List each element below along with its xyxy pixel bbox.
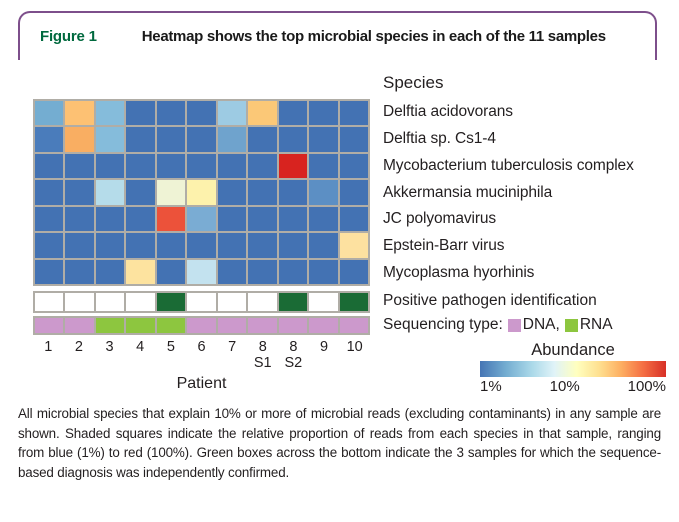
sequencing-type-legend: Sequencing type: DNA, RNA bbox=[383, 316, 613, 334]
legend-tick-mid: 10% bbox=[550, 378, 580, 395]
species-label: Mycobacterium tuberculosis complex bbox=[383, 157, 634, 175]
heatmap-cell bbox=[34, 153, 64, 179]
heatmap-cell bbox=[217, 259, 247, 285]
pathogen-identification-cell bbox=[217, 292, 247, 312]
heatmap-cell bbox=[156, 126, 186, 152]
heatmap-cell bbox=[308, 179, 338, 205]
pathogen-identification-cell bbox=[95, 292, 125, 312]
x-axis-tick-labels: 12345678S18S2910 bbox=[33, 339, 370, 377]
species-label: Epstein-Barr virus bbox=[383, 237, 504, 255]
heatmap-cell bbox=[64, 179, 94, 205]
heatmap-cell bbox=[64, 100, 94, 126]
pathogen-identification-cell bbox=[278, 292, 308, 312]
sequencing-type-cell bbox=[95, 317, 125, 334]
x-axis-tick: 5 bbox=[156, 339, 187, 377]
figure-title: Heatmap shows the top microbial species … bbox=[142, 28, 606, 45]
heatmap-cell bbox=[156, 232, 186, 258]
heatmap-cell bbox=[278, 206, 308, 232]
heatmap-cell bbox=[125, 232, 155, 258]
heatmap-cell bbox=[95, 153, 125, 179]
sequencing-type-cell bbox=[247, 317, 277, 334]
heatmap-cell bbox=[34, 232, 64, 258]
heatmap-cell bbox=[308, 259, 338, 285]
heatmap-cell bbox=[278, 259, 308, 285]
heatmap-cell bbox=[34, 100, 64, 126]
heatmap-cell bbox=[278, 179, 308, 205]
figure-number: Figure 1 bbox=[40, 28, 97, 45]
heatmap-cell bbox=[64, 259, 94, 285]
heatmap-cell bbox=[339, 206, 369, 232]
abundance-legend-title: Abundance bbox=[480, 341, 666, 360]
heatmap-cell bbox=[278, 100, 308, 126]
heatmap-cell bbox=[64, 126, 94, 152]
heatmap-cell bbox=[339, 232, 369, 258]
species-label: Akkermansia muciniphila bbox=[383, 184, 552, 202]
pathogen-identification-label: Positive pathogen identification bbox=[383, 292, 597, 310]
heatmap-cell bbox=[308, 232, 338, 258]
heatmap-cell bbox=[339, 153, 369, 179]
heatmap-cell bbox=[186, 179, 216, 205]
rna-label: RNA bbox=[580, 316, 613, 334]
heatmap-cell bbox=[125, 179, 155, 205]
heatmap-cell bbox=[186, 126, 216, 152]
heatmap-cell bbox=[217, 126, 247, 152]
heatmap-cell bbox=[95, 232, 125, 258]
figure-caption: All microbial species that explain 10% o… bbox=[18, 404, 661, 482]
heatmap-cell bbox=[217, 179, 247, 205]
heatmap-grid bbox=[33, 99, 370, 286]
species-label: Delftia sp. Cs1-4 bbox=[383, 130, 496, 148]
heatmap-cell bbox=[247, 153, 277, 179]
x-axis-tick: 10 bbox=[339, 339, 370, 377]
heatmap-cell bbox=[64, 232, 94, 258]
sequencing-type-cell bbox=[64, 317, 94, 334]
heatmap-cell bbox=[339, 259, 369, 285]
heatmap-cell bbox=[34, 126, 64, 152]
sequencing-type-row bbox=[33, 316, 370, 335]
heatmap-cell bbox=[186, 100, 216, 126]
pathogen-identification-cell bbox=[125, 292, 155, 312]
legend-tick-max: 100% bbox=[628, 378, 666, 395]
heatmap-cell bbox=[156, 259, 186, 285]
dna-color-swatch bbox=[508, 319, 521, 332]
x-axis-title: Patient bbox=[33, 375, 370, 393]
heatmap-cell bbox=[308, 126, 338, 152]
x-axis-tick: 1 bbox=[33, 339, 64, 377]
heatmap-cell bbox=[186, 232, 216, 258]
pathogen-identification-row bbox=[33, 291, 370, 313]
heatmap-cell bbox=[339, 126, 369, 152]
heatmap-cell bbox=[308, 100, 338, 126]
figure-header: Figure 1 Heatmap shows the top microbial… bbox=[18, 11, 657, 60]
sequencing-type-label-text: Sequencing type: bbox=[383, 316, 503, 334]
heatmap-cell bbox=[125, 126, 155, 152]
heatmap-cell bbox=[95, 259, 125, 285]
figure-plot-area: Species Delftia acidovoransDelftia sp. C… bbox=[0, 60, 679, 395]
pathogen-identification-cell bbox=[156, 292, 186, 312]
heatmap-cell bbox=[247, 126, 277, 152]
sequencing-type-cell bbox=[308, 317, 338, 334]
heatmap-cell bbox=[247, 179, 277, 205]
pathogen-identification-cell bbox=[308, 292, 338, 312]
sequencing-type-cell bbox=[186, 317, 216, 334]
heatmap-cell bbox=[217, 153, 247, 179]
heatmap-cell bbox=[34, 206, 64, 232]
heatmap-cell bbox=[308, 153, 338, 179]
species-label: Mycoplasma hyorhinis bbox=[383, 264, 534, 282]
sequencing-type-cell bbox=[156, 317, 186, 334]
heatmap-cell bbox=[247, 206, 277, 232]
heatmap-cell bbox=[95, 206, 125, 232]
pathogen-identification-cell bbox=[247, 292, 277, 312]
heatmap-cell bbox=[186, 153, 216, 179]
heatmap-cell bbox=[156, 206, 186, 232]
x-axis-tick: 2 bbox=[64, 339, 95, 377]
x-axis-tick: 6 bbox=[186, 339, 217, 377]
heatmap-cell bbox=[34, 179, 64, 205]
heatmap-cell bbox=[186, 259, 216, 285]
x-axis-tick: 8S1 bbox=[247, 339, 278, 377]
rna-color-swatch bbox=[565, 319, 578, 332]
abundance-legend-ticks: 1% 10% 100% bbox=[480, 378, 666, 395]
x-axis-tick: 4 bbox=[125, 339, 156, 377]
x-axis-tick: 3 bbox=[94, 339, 125, 377]
heatmap-cell bbox=[278, 153, 308, 179]
heatmap-cell bbox=[64, 206, 94, 232]
species-column-heading: Species bbox=[383, 73, 443, 93]
heatmap-cell bbox=[186, 206, 216, 232]
abundance-colorbar bbox=[480, 361, 666, 377]
legend-tick-min: 1% bbox=[480, 378, 502, 395]
x-axis-tick: 9 bbox=[309, 339, 340, 377]
sequencing-type-cell bbox=[339, 317, 369, 334]
x-axis-tick: 7 bbox=[217, 339, 248, 377]
heatmap-cell bbox=[339, 179, 369, 205]
heatmap-cell bbox=[64, 153, 94, 179]
heatmap-cell bbox=[217, 206, 247, 232]
x-axis-tick: 8S2 bbox=[278, 339, 309, 377]
heatmap-cell bbox=[278, 232, 308, 258]
heatmap-cell bbox=[156, 100, 186, 126]
heatmap-cell bbox=[308, 206, 338, 232]
sequencing-type-cell bbox=[278, 317, 308, 334]
heatmap-cell bbox=[95, 179, 125, 205]
heatmap-cell bbox=[125, 153, 155, 179]
abundance-legend: Abundance 1% 10% 100% bbox=[480, 341, 666, 395]
heatmap-cell bbox=[247, 259, 277, 285]
heatmap-cell bbox=[278, 126, 308, 152]
heatmap-cell bbox=[156, 153, 186, 179]
species-label: JC polyomavirus bbox=[383, 210, 496, 228]
heatmap-cell bbox=[125, 206, 155, 232]
sequencing-type-cell bbox=[217, 317, 247, 334]
heatmap-cell bbox=[339, 100, 369, 126]
heatmap-cell bbox=[156, 179, 186, 205]
heatmap-cell bbox=[247, 100, 277, 126]
pathogen-identification-cell bbox=[34, 292, 64, 312]
sequencing-type-cell bbox=[125, 317, 155, 334]
heatmap-cell bbox=[125, 259, 155, 285]
pathogen-identification-cell bbox=[186, 292, 216, 312]
sequencing-type-cell bbox=[34, 317, 64, 334]
heatmap-cell bbox=[34, 259, 64, 285]
heatmap-cell bbox=[125, 100, 155, 126]
species-label: Delftia acidovorans bbox=[383, 103, 513, 121]
heatmap-cell bbox=[95, 100, 125, 126]
pathogen-identification-cell bbox=[64, 292, 94, 312]
dna-label: DNA, bbox=[523, 316, 560, 334]
pathogen-identification-cell bbox=[339, 292, 369, 312]
heatmap-cell bbox=[217, 100, 247, 126]
heatmap-cell bbox=[217, 232, 247, 258]
heatmap-cell bbox=[247, 232, 277, 258]
heatmap-cell bbox=[95, 126, 125, 152]
